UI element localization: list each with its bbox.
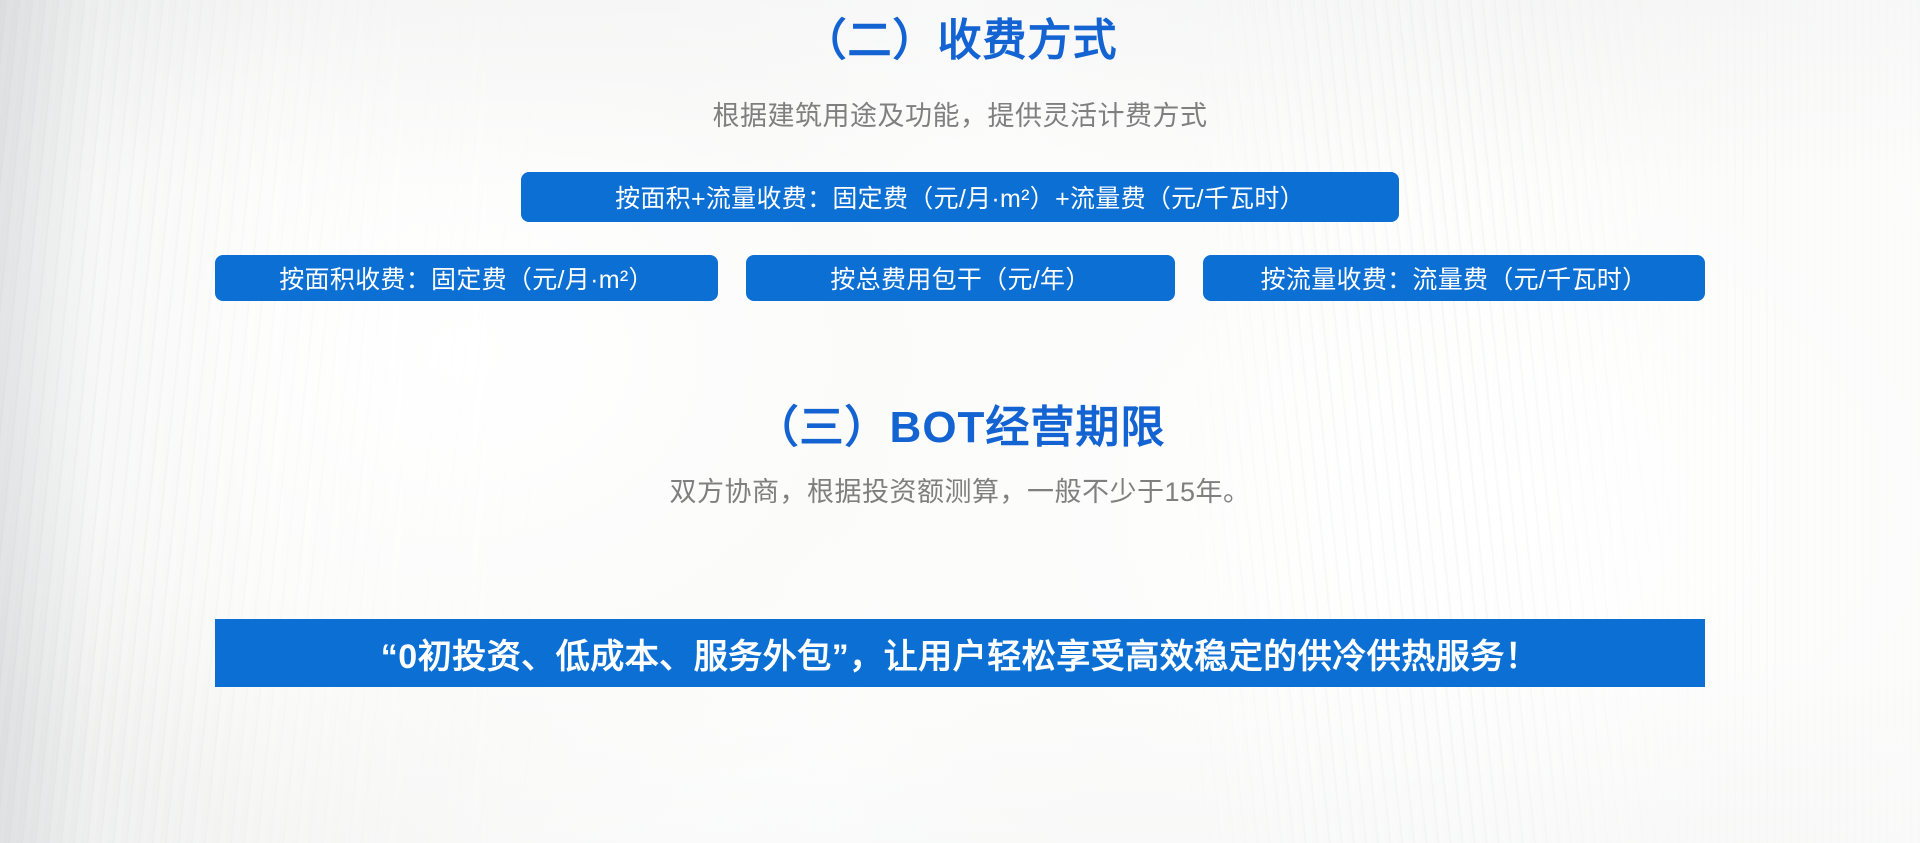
fee-option-area-plus-flow: 按面积+流量收费：固定费（元/月·m²）+流量费（元/千瓦时）	[521, 172, 1399, 222]
fee-option-by-flow: 按流量收费：流量费（元/千瓦时）	[1203, 255, 1705, 301]
summary-banner: “0初投资、低成本、服务外包”，让用户轻松享受高效稳定的供冷供热服务！	[215, 619, 1705, 687]
fee-option-lump-sum: 按总费用包干（元/年）	[746, 255, 1175, 301]
section-subtitle-bot-term: 双方协商，根据投资额测算，一般不少于15年。	[0, 476, 1920, 508]
section-title-fee-method: （二）收费方式	[0, 17, 1920, 65]
slide-content: （二）收费方式 根据建筑用途及功能，提供灵活计费方式 按面积+流量收费：固定费（…	[0, 0, 1920, 843]
fee-option-by-area: 按面积收费：固定费（元/月·m²）	[215, 255, 718, 301]
section-title-bot-term: （三）BOT经营期限	[0, 404, 1920, 452]
section-subtitle-fee-method: 根据建筑用途及功能，提供灵活计费方式	[0, 100, 1920, 132]
